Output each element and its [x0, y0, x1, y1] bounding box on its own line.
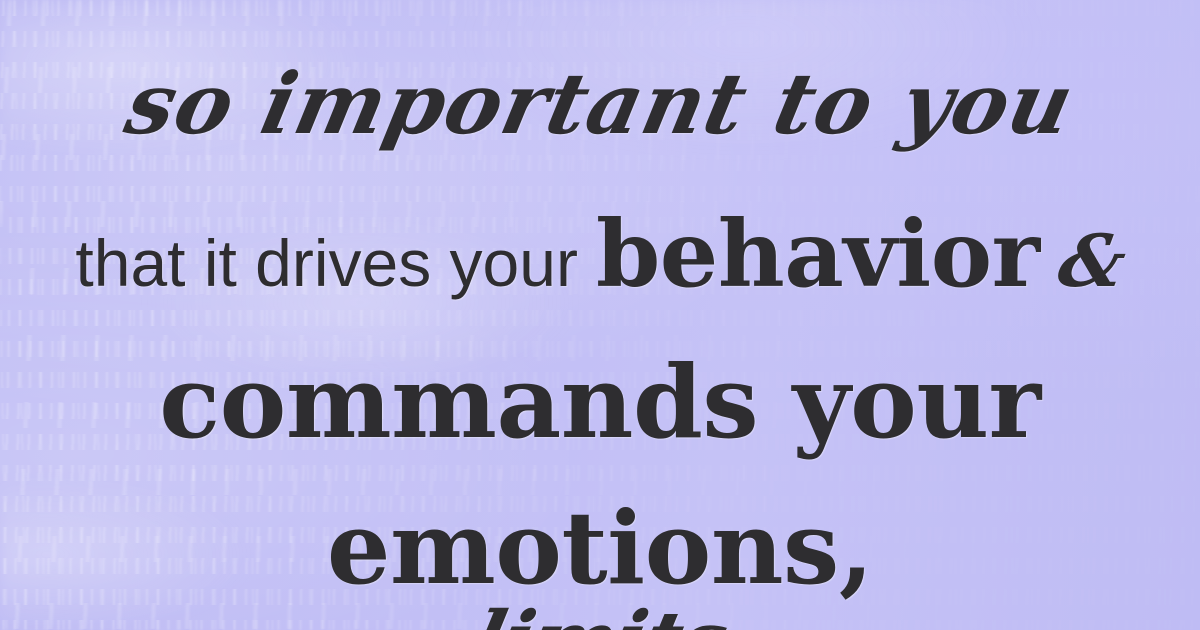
quote-line-5-clipped: limits	[0, 602, 1200, 630]
quote-line-3: commands your	[0, 352, 1200, 452]
quote-line-2-ampersand: &	[1033, 225, 1131, 297]
quote-line-1: so important to you	[0, 62, 1200, 146]
quote-line-2-segment-emphasis: behavior	[596, 208, 1040, 300]
quote-text-block: so important to you that it drives your …	[0, 0, 1200, 630]
quote-line-2: that it drives your behavior &	[0, 208, 1200, 300]
quote-line-2-segment-sans: that it drives your	[75, 230, 596, 296]
quote-line-4: emotions,	[0, 498, 1200, 598]
quote-image-canvas: so important to you that it drives your …	[0, 0, 1200, 630]
